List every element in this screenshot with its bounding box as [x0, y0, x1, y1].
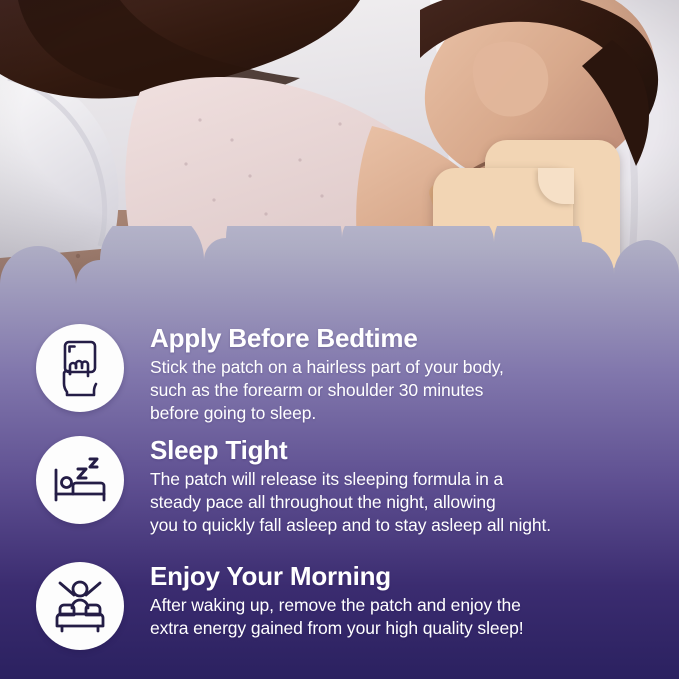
step-title: Apply Before Bedtime	[150, 324, 665, 353]
hand-applying-patch-icon	[36, 324, 124, 412]
person-stretching-awake-in-bed-icon	[36, 562, 124, 650]
step-body: After waking up, remove the patch and en…	[150, 594, 665, 641]
step-body: Stick the patch on a hairless part of yo…	[150, 356, 665, 426]
step-text-block: Sleep Tight The patch will release its s…	[150, 436, 679, 537]
step-text-block: Apply Before Bedtime Stick the patch on …	[150, 324, 679, 425]
person-sleeping-in-bed-zzz-icon	[36, 436, 124, 524]
step-body: The patch will release its sleeping form…	[150, 468, 665, 538]
sleep-patch-infographic: Apply Before Bedtime Stick the patch on …	[0, 0, 679, 679]
step-item-enjoy-your-morning: Enjoy Your Morning After waking up, remo…	[0, 562, 679, 650]
step-title: Sleep Tight	[150, 436, 665, 465]
steps-list: Apply Before Bedtime Stick the patch on …	[0, 226, 679, 679]
step-item-sleep-tight: Sleep Tight The patch will release its s…	[0, 436, 679, 537]
step-title: Enjoy Your Morning	[150, 562, 665, 591]
step-item-apply-before-bedtime: Apply Before Bedtime Stick the patch on …	[0, 324, 679, 425]
step-text-block: Enjoy Your Morning After waking up, remo…	[150, 562, 679, 640]
